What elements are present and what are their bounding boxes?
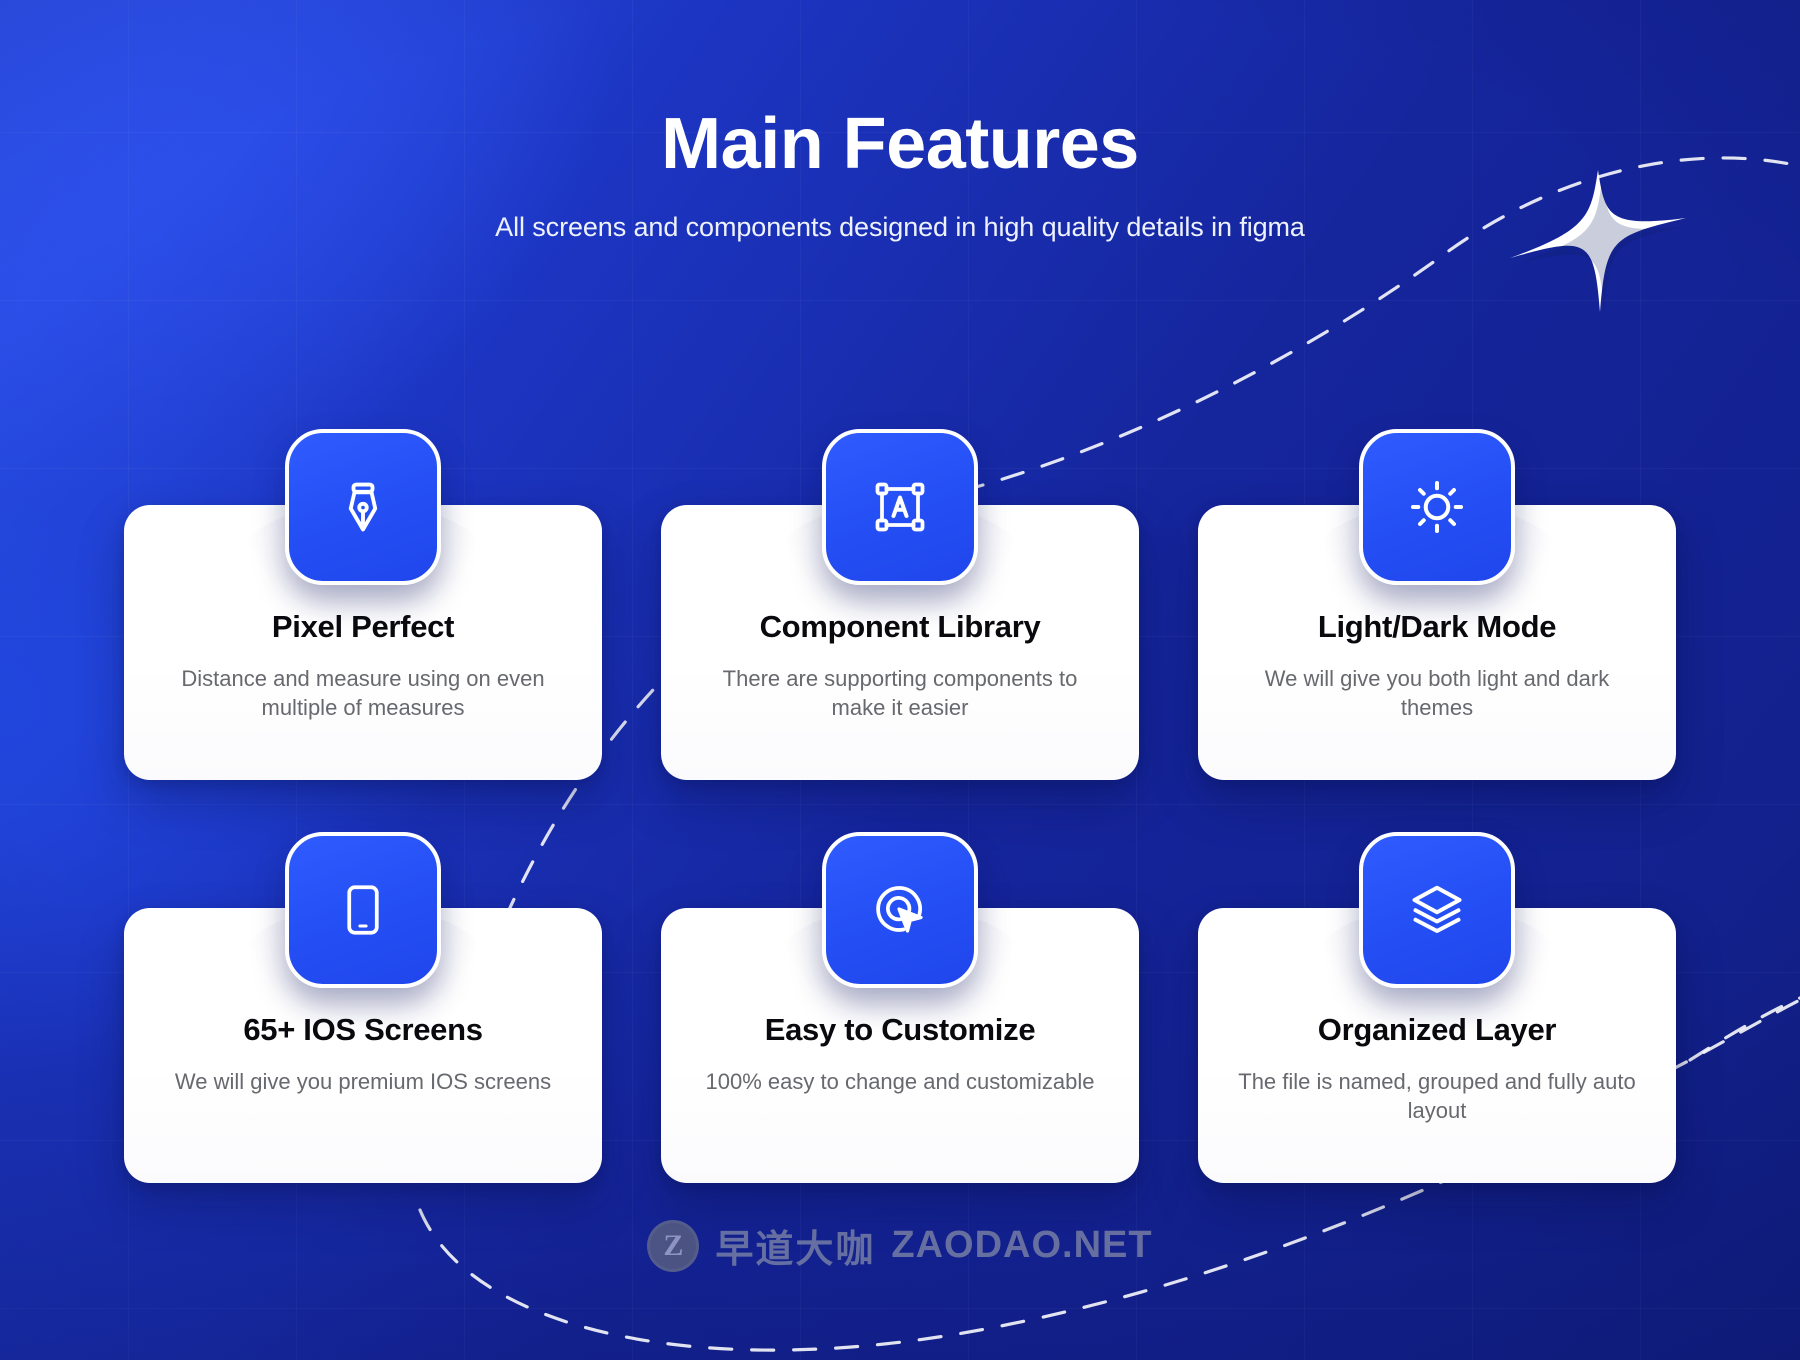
icon-tile xyxy=(822,832,978,988)
watermark: Z 早道大咖 ZAODAO.NET xyxy=(0,1218,1800,1273)
component-frame-a-icon xyxy=(870,477,930,537)
pen-nib-icon xyxy=(333,477,393,537)
watermark-en-text: ZAODAO.NET xyxy=(891,1224,1152,1267)
feature-card-easy-to-customize[interactable]: Easy to Customize 100% easy to change an… xyxy=(661,908,1139,1183)
cursor-click-icon xyxy=(870,880,930,940)
watermark-cn-text: 早道大咖 xyxy=(715,1218,875,1273)
icon-tile xyxy=(1359,832,1515,988)
card-title: 65+ IOS Screens xyxy=(124,1012,602,1048)
icon-tile xyxy=(285,429,441,585)
feature-card-pixel-perfect[interactable]: Pixel Perfect Distance and measure using… xyxy=(124,505,602,780)
feature-card-light-dark-mode[interactable]: Light/Dark Mode We will give you both li… xyxy=(1198,505,1676,780)
page-title: Main Features xyxy=(0,108,1800,180)
page-subtitle: All screens and components designed in h… xyxy=(0,212,1800,243)
feature-card-organized-layer[interactable]: Organized Layer The file is named, group… xyxy=(1198,908,1676,1183)
card-title: Easy to Customize xyxy=(661,1012,1139,1048)
card-title: Pixel Perfect xyxy=(124,609,602,645)
icon-tile xyxy=(1359,429,1515,585)
header: Main Features All screens and components… xyxy=(0,0,1800,243)
card-description: 100% easy to change and customizable xyxy=(661,1067,1139,1096)
card-description: Distance and measure using on even multi… xyxy=(124,664,602,723)
sun-icon xyxy=(1407,477,1467,537)
card-description: We will give you premium IOS screens xyxy=(124,1067,602,1096)
zaodao-logo-icon: Z xyxy=(647,1220,699,1272)
feature-card-component-library[interactable]: Component Library There are supporting c… xyxy=(661,505,1139,780)
icon-tile xyxy=(822,429,978,585)
card-description: We will give you both light and dark the… xyxy=(1198,664,1676,723)
card-title: Organized Layer xyxy=(1198,1012,1676,1048)
card-description: The file is named, grouped and fully aut… xyxy=(1198,1067,1676,1126)
layers-stack-icon xyxy=(1407,880,1467,940)
card-description: There are supporting components to make … xyxy=(661,664,1139,723)
card-title: Light/Dark Mode xyxy=(1198,609,1676,645)
features-grid: Pixel Perfect Distance and measure using… xyxy=(124,505,1676,1183)
mobile-phone-icon xyxy=(334,881,392,939)
icon-tile xyxy=(285,832,441,988)
card-title: Component Library xyxy=(661,609,1139,645)
feature-card-ios-screens[interactable]: 65+ IOS Screens We will give you premium… xyxy=(124,908,602,1183)
